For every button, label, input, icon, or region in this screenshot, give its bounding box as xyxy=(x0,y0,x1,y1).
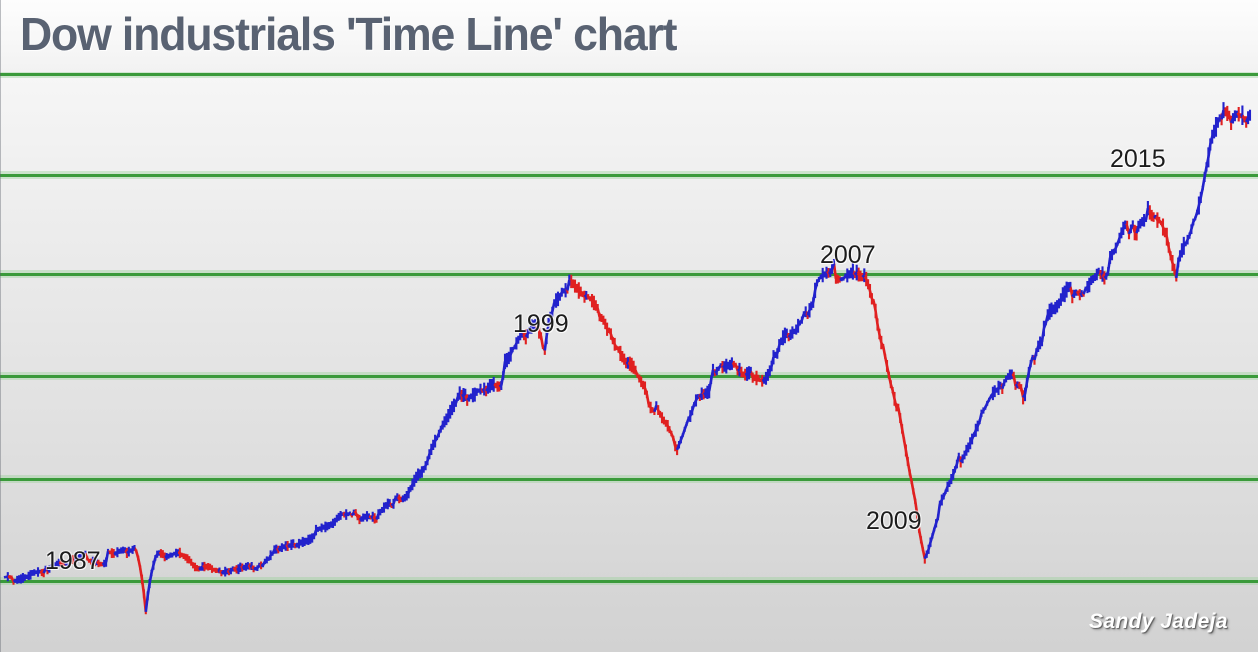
gridline-4 xyxy=(0,478,1258,481)
price-chart-svg xyxy=(0,72,1258,652)
annotation-2007: 2007 xyxy=(820,241,876,270)
gridlines-group xyxy=(0,72,1258,585)
author-credit: Sandy Jadeja xyxy=(1089,610,1228,634)
gridline-0 xyxy=(0,73,1258,76)
gridline-5 xyxy=(0,580,1258,583)
gridline-1 xyxy=(0,174,1258,177)
page-title: Dow industrials 'Time Line' chart xyxy=(20,7,676,61)
chart-plot-area xyxy=(0,72,1258,652)
chart-screenshot: Dow industrials 'Time Line' chart 1987 1… xyxy=(0,0,1258,652)
annotation-1987: 1987 xyxy=(45,547,101,576)
annotation-1999: 1999 xyxy=(513,310,569,339)
annotation-2009: 2009 xyxy=(866,507,922,536)
left-border-edge xyxy=(0,0,1,652)
title-band: Dow industrials 'Time Line' chart xyxy=(0,0,1258,72)
annotation-2015: 2015 xyxy=(1110,145,1166,174)
gridline-2 xyxy=(0,273,1258,276)
gridline-3 xyxy=(0,375,1258,378)
